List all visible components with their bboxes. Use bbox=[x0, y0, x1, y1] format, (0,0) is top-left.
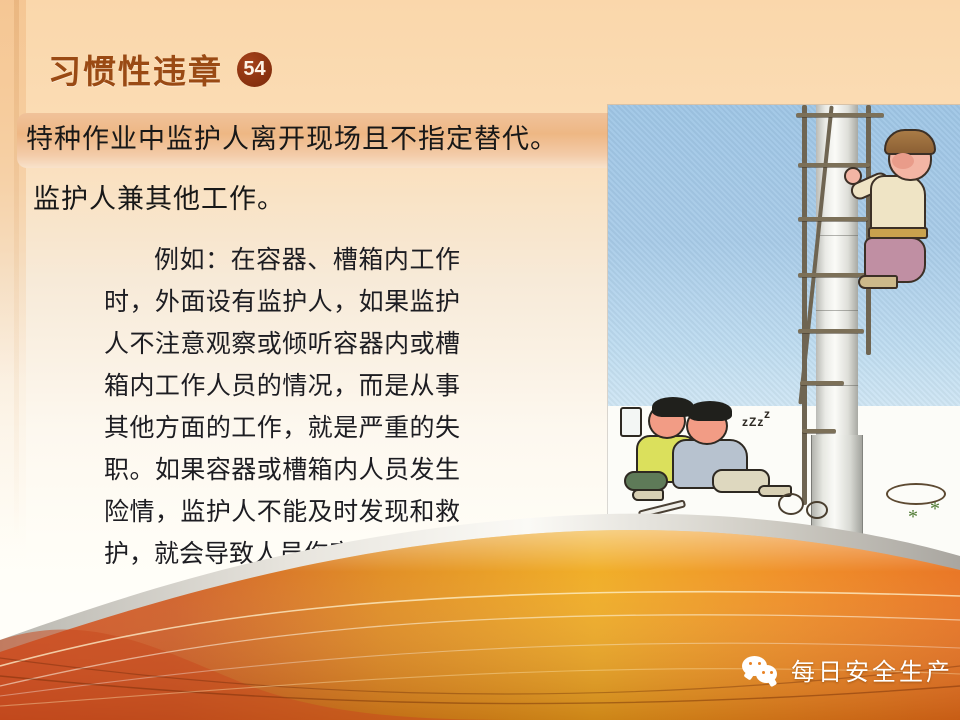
wechat-icon bbox=[742, 655, 782, 685]
worker-climbing-pole bbox=[844, 123, 948, 303]
headline-line-1: 特种作业中监护人离开现场且不指定替代。 bbox=[26, 116, 641, 163]
rope-rung bbox=[802, 429, 836, 433]
rope-rung bbox=[800, 381, 844, 385]
status-badge: 54 bbox=[237, 52, 272, 87]
left-accent-line bbox=[14, 0, 19, 560]
watermark-label: 每日安全生产 bbox=[791, 652, 953, 687]
slide-canvas: 习惯性违章 54 特种作业中监护人离开现场且不指定替代。 监护人兼其他工作。 例… bbox=[0, 0, 960, 720]
worker-drinking-leg bbox=[624, 471, 668, 491]
water-bottle bbox=[620, 407, 642, 437]
page-title: 习惯性违章 54 bbox=[48, 45, 272, 93]
title-label: 习惯性违章 bbox=[48, 45, 223, 93]
rope-rung bbox=[796, 113, 884, 117]
watermark: 每日安全生产 bbox=[742, 652, 953, 687]
headline-line-2: 监护人兼其他工作。 bbox=[33, 176, 633, 223]
sleep-zzz-marks: zZz bbox=[742, 415, 764, 429]
rope-rung bbox=[798, 329, 864, 333]
worker-sleeping-hair bbox=[688, 401, 732, 421]
sleep-zzz-marks-2: z bbox=[764, 407, 771, 421]
